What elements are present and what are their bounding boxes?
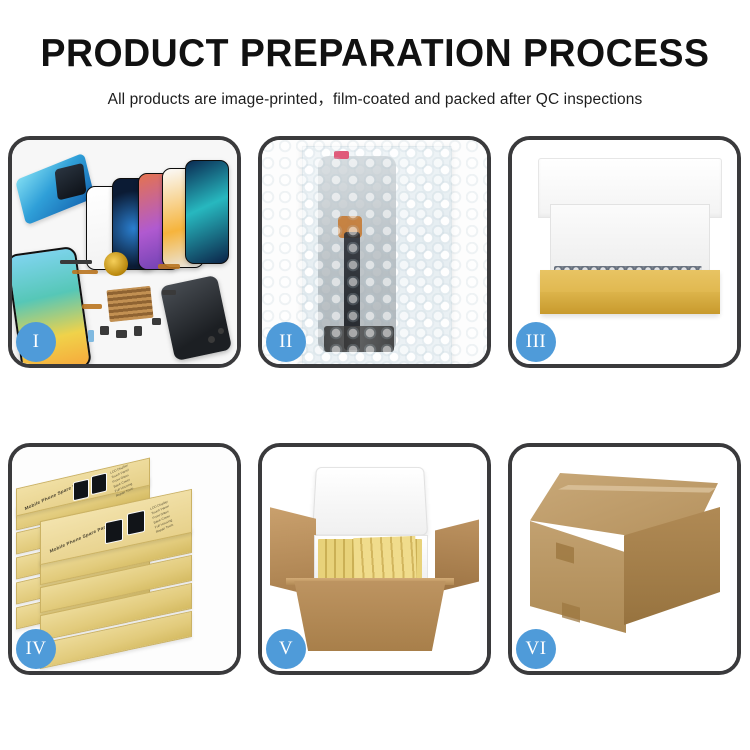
flex-cable-part-2 <box>158 264 180 269</box>
step-card-2: II <box>258 136 491 368</box>
small-component-7 <box>162 290 176 295</box>
small-component-3 <box>116 330 127 338</box>
speaker-coil-part <box>104 252 128 276</box>
small-component-1 <box>60 260 92 264</box>
phone-screen-teal <box>185 160 229 264</box>
foam-box-lid <box>312 467 428 536</box>
small-component-4 <box>134 326 142 336</box>
step-card-4: Mobile Phone Spare Parts LCD Display Tou… <box>8 443 241 675</box>
box-brand-text-front: Mobile Phone Spare Parts <box>49 523 110 554</box>
foam-sheet <box>550 204 710 274</box>
chip-grid-part <box>106 286 153 322</box>
step-card-5: V <box>258 443 491 675</box>
page-header: PRODUCT PREPARATION PROCESS All products… <box>0 0 750 109</box>
pink-label-tag <box>334 151 349 159</box>
carton-front-face <box>284 581 456 651</box>
step-card-3: III <box>508 136 741 368</box>
box-product-photo-front-1 <box>105 519 123 545</box>
box-product-photo-front-2 <box>127 510 145 536</box>
step-badge-6: VI <box>516 629 556 669</box>
yellow-boxes-row-2 <box>353 536 416 580</box>
box-product-photo-back-2 <box>91 472 107 495</box>
box-checklist-front: LCD Display Touch Panel Front Glass Back… <box>150 500 174 535</box>
page-title: PRODUCT PREPARATION PROCESS <box>15 34 735 73</box>
flex-cable-part-1 <box>72 270 98 274</box>
step-card-6: VI <box>508 443 741 675</box>
process-step-grid: I II <box>8 136 742 675</box>
screw-part-2 <box>218 328 224 334</box>
step-badge-2: II <box>266 322 306 362</box>
flex-cable-part-3 <box>82 304 102 309</box>
small-component-6 <box>88 330 94 342</box>
step-card-1: I <box>8 136 241 368</box>
screw-part-1 <box>208 336 215 343</box>
step-badge-5: V <box>266 629 306 669</box>
step-badge-1: I <box>16 322 56 362</box>
small-component-5 <box>152 318 161 325</box>
small-component-2 <box>100 326 109 335</box>
product-preparation-page: PRODUCT PREPARATION PROCESS All products… <box>0 0 750 750</box>
phone-backplate-part <box>160 275 233 361</box>
box-product-photo-back-1 <box>73 479 89 502</box>
blue-protective-film-icon <box>15 153 95 226</box>
page-subtitle: All products are image-printed，film-coat… <box>0 87 750 109</box>
ic-driver-block <box>324 326 394 352</box>
step-badge-4: IV <box>16 629 56 669</box>
step-badge-3: III <box>516 322 556 362</box>
kraft-tray-front <box>540 292 720 314</box>
